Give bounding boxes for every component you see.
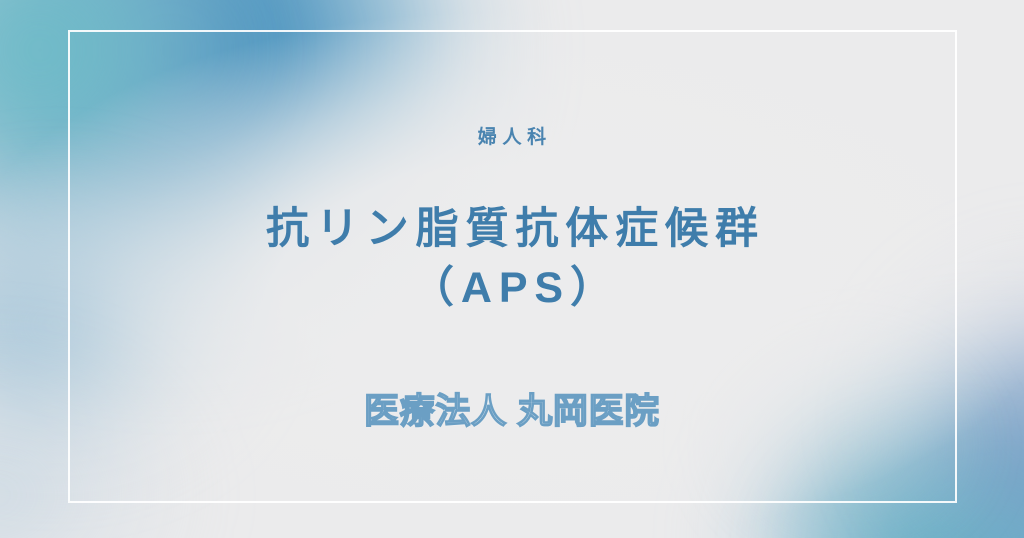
clinic-name: 医療法人 丸岡医院 (364, 389, 660, 435)
page-title-line-1: 抗リン脂質抗体症候群 (266, 205, 765, 253)
page-title: 抗リン脂質抗体症候群 （APS） (259, 200, 765, 319)
category-label: 婦人科 (472, 126, 552, 151)
content-stack: 婦人科 抗リン脂質抗体症候群 （APS） 医療法人 丸岡医院 (0, 0, 1024, 538)
page-title-line-2: （APS） (259, 259, 765, 318)
eyecatch-banner: 婦人科 抗リン脂質抗体症候群 （APS） 医療法人 丸岡医院 (0, 0, 1024, 538)
